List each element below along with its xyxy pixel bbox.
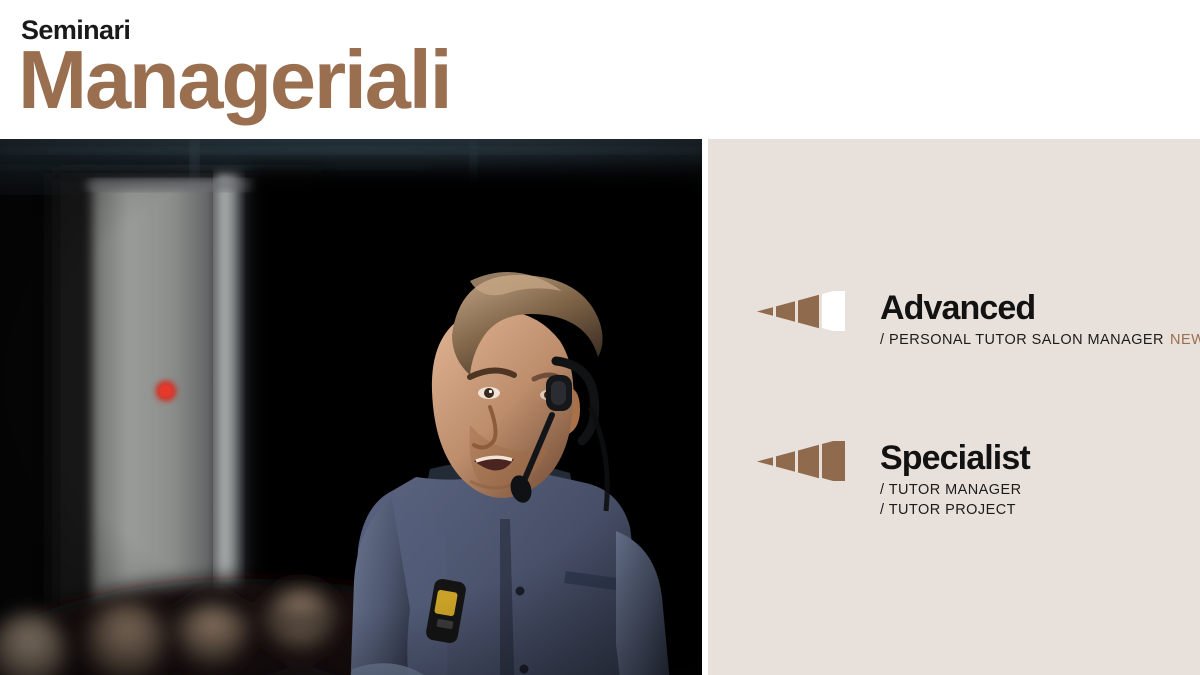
level-wedge-specialist [757,441,851,481]
tier-advanced-course-0[interactable]: / PERSONAL TUTOR SALON MANAGERNEW [880,330,1200,350]
speaker-photo-illustration [0,139,702,675]
status-badge-new: NEW [1170,332,1200,348]
speaker-photo [0,139,702,675]
level-indicator-3-of-4-icon [757,291,851,331]
tier-advanced-title: Advanced [880,289,1200,327]
course-label: / TUTOR PROJECT [880,502,1016,518]
tier-specialist-title: Specialist [880,439,1200,477]
course-label: / PERSONAL TUTOR SALON MANAGER [880,332,1164,348]
tier-specialist-course-1[interactable]: / TUTOR PROJECT [880,500,1200,520]
course-label: / TUTOR MANAGER [880,482,1022,498]
tier-specialist-course-0[interactable]: / TUTOR MANAGER [880,480,1200,500]
level-wedge-advanced [757,291,851,331]
tier-specialist-body: Specialist / TUTOR MANAGER / TUTOR PROJE… [880,439,1200,520]
tier-advanced-body: Advanced / PERSONAL TUTOR SALON MANAGERN… [880,289,1200,350]
level-indicator-4-of-4-icon [757,441,851,481]
page-header: Seminari Manageriali [0,0,1200,139]
page-title: Manageriali [18,35,450,125]
course-tiers-panel: Advanced / PERSONAL TUTOR SALON MANAGERN… [708,139,1200,675]
